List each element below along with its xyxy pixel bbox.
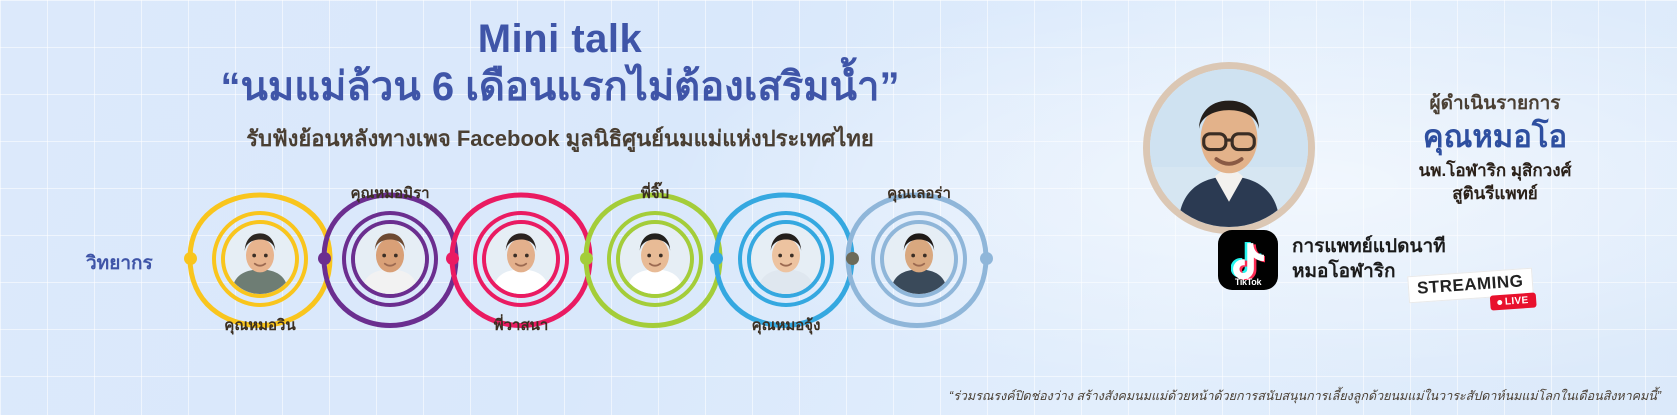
speaker-avatar-4[interactable]: พี่จิ๊บ	[607, 211, 703, 307]
avatar-photo	[620, 224, 690, 294]
live-badge: LIVE	[1489, 292, 1536, 310]
headline-block: Mini talk “นมแม่ล้วน 6 เดือนแรกไม่ต้องเส…	[0, 18, 1120, 152]
timeline-dot-7	[980, 252, 993, 265]
avatar-ring-inner	[880, 220, 958, 298]
avatar-ring-inner	[221, 220, 299, 298]
avatar-photo	[486, 224, 556, 294]
timeline-dot-6	[846, 252, 859, 265]
avatar-photo	[225, 224, 295, 294]
webinar-banner: Mini talk “นมแม่ล้วน 6 เดือนแรกไม่ต้องเส…	[0, 0, 1677, 415]
avatar-photo	[355, 224, 425, 294]
channel-name-line1: การแพทย์แปดนาที	[1292, 235, 1446, 260]
host-role: ผู้ดำเนินรายการ	[1330, 88, 1660, 118]
footer-note: “ร่วมรณรงค์ปิดช่องว่าง สร้างสังคมนมแม่ด้…	[0, 386, 1661, 406]
speaker-name: คุณหมอวิน	[224, 313, 295, 337]
host-portrait-icon	[1150, 69, 1308, 227]
talk-subtitle: รับฟังย้อนหลังทางเพจ Facebook มูลนิธิศูน…	[0, 126, 1120, 152]
host-full-name: นพ.โอฬาริก มุสิกวงศ์	[1330, 160, 1660, 183]
timeline-dot-1	[184, 252, 197, 265]
mini-talk-title: Mini talk	[0, 18, 1120, 60]
avatar-ring-inner	[351, 220, 429, 298]
speakers-label: วิทยากร	[86, 248, 153, 278]
tiktok-note-svg	[1231, 242, 1265, 280]
avatar-ring-inner	[616, 220, 694, 298]
tiktok-icon[interactable]: TikTok	[1218, 230, 1278, 290]
speaker-name: คุณหมอจุ้ง	[752, 313, 821, 337]
speaker-avatar-1[interactable]: คุณหมอวิน	[212, 211, 308, 307]
avatar-photo	[751, 224, 821, 294]
speaker-avatar-5[interactable]: คุณหมอจุ้ง	[738, 211, 834, 307]
speaker-name: คุณเลอร่า	[887, 181, 951, 205]
avatar-photo	[884, 224, 954, 294]
timeline-dot-2	[318, 252, 331, 265]
tiktok-wordmark: TikTok	[1218, 277, 1278, 287]
speaker-name: พี่วาสนา	[494, 313, 549, 337]
host-avatar	[1143, 62, 1315, 234]
host-specialty: สูตินรีแพทย์	[1330, 183, 1660, 206]
speakers-timeline: คุณหมอวิน คุณหมอมิรา พี่วาสนา พี่จิ๊บ	[0, 180, 1060, 350]
host-info: ผู้ดำเนินรายการ คุณหมอโอ นพ.โอฬาริก มุสิ…	[1330, 88, 1660, 206]
timeline-dot-5	[710, 252, 723, 265]
avatar-ring-inner	[747, 220, 825, 298]
avatar-ring-inner	[482, 220, 560, 298]
tiktok-note-glyph	[1231, 242, 1265, 276]
timeline-dot-3	[446, 252, 459, 265]
speaker-name: พี่จิ๊บ	[641, 181, 669, 205]
speaker-avatar-6[interactable]: คุณเลอร่า	[871, 211, 967, 307]
timeline-dot-4	[580, 252, 593, 265]
speaker-avatar-2[interactable]: คุณหมอมิรา	[342, 211, 438, 307]
speaker-avatar-3[interactable]: พี่วาสนา	[473, 211, 569, 307]
host-name: คุณหมอโอ	[1330, 120, 1660, 154]
talk-topic: “นมแม่ล้วน 6 เดือนแรกไม่ต้องเสริมน้ำ”	[0, 64, 1120, 110]
live-label: LIVE	[1505, 295, 1530, 308]
speaker-name: คุณหมอมิรา	[350, 181, 429, 205]
live-dot-icon	[1497, 300, 1502, 305]
